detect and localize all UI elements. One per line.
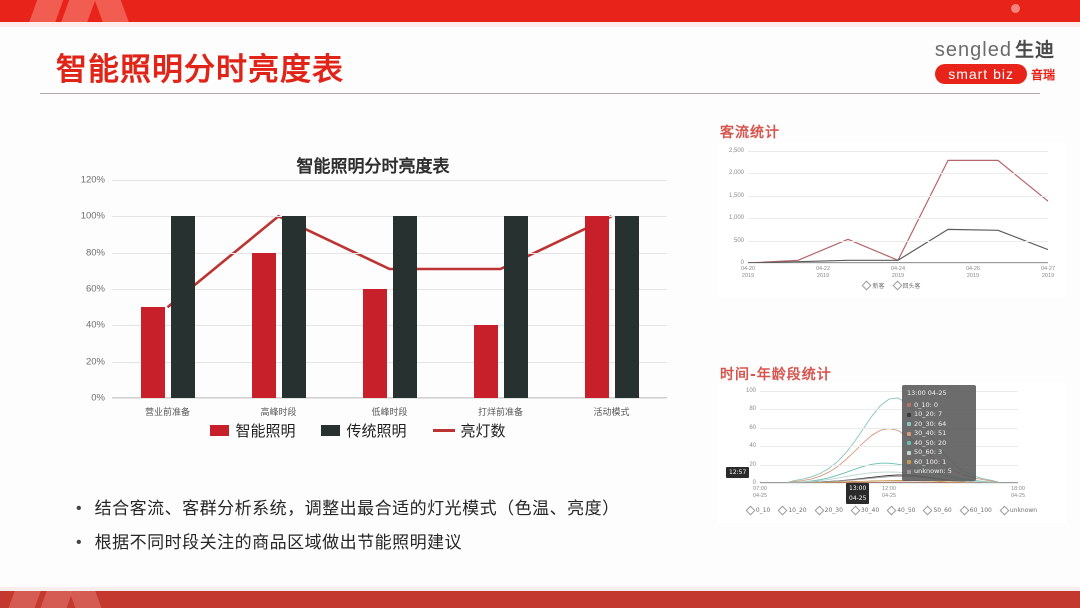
legend-label: 回头客 (903, 281, 921, 290)
age-tooltip-swatch-icon (907, 422, 911, 426)
age-tooltip-swatch-icon (907, 451, 911, 455)
legend-marker-icon (999, 506, 1009, 516)
age-marker-left: 12:57 (726, 467, 749, 478)
x-axis-tick-label: 04-262019 (966, 266, 980, 280)
age-series-line (760, 429, 1018, 484)
x-axis-tick-label: 04-222019 (816, 266, 830, 280)
age-tooltip-value: 10_20: 7 (914, 410, 942, 420)
traffic-chart: 05001,0001,5002,0002,50004-20201904-2220… (718, 143, 1066, 298)
bar-traditional-lighting (282, 216, 306, 398)
legend-label: 30_40 (861, 507, 879, 514)
y-axis-tick-label: 100% (81, 211, 105, 222)
legend-label-smart: 智能照明 (235, 420, 295, 441)
x-axis-tick-label: 18:0004-25 (1011, 486, 1025, 500)
legend-marker-icon (778, 506, 788, 516)
legend-item[interactable]: 10_20 (779, 507, 806, 514)
traffic-series-line (748, 160, 1048, 263)
chevron-shape (3, 591, 44, 608)
legend-item[interactable]: unknown (1001, 507, 1037, 514)
page-title: 智能照明分时亮度表 (56, 44, 344, 89)
y-axis-tick-label: 1,500 (729, 193, 744, 199)
traffic-panel-heading: 客流统计 (720, 122, 780, 142)
logo-brand-row: sengled生迪 (935, 40, 1055, 60)
age-tooltip-value: 30_40: 51 (914, 429, 946, 439)
legend-marker-icon (887, 506, 897, 516)
age-tooltip-swatch-icon (907, 470, 911, 474)
age-tooltip-swatch-icon (907, 460, 911, 464)
age-tooltip-row: 0_10: 0 (907, 401, 971, 411)
legend-label: 50_60 (933, 507, 951, 514)
legend-label: 新客 (872, 281, 884, 290)
legend-label: unknown (1010, 507, 1037, 514)
list-item: • 根据不同时段关注的商品区域做出节能照明建议 (76, 532, 736, 555)
x-axis-tick-label: 04-202019 (741, 266, 755, 280)
age-tooltip-row: 20_30: 64 (907, 420, 971, 430)
y-axis-tick-label: 0% (91, 393, 105, 404)
age-panel-heading: 时间-年龄段统计 (720, 364, 832, 384)
legend-swatch-lampcount-icon (433, 429, 455, 432)
grid-line: 120% (112, 180, 667, 181)
legend-item[interactable]: 50_60 (924, 507, 951, 514)
x-axis-tick-label: 07:0004-25 (753, 486, 767, 500)
x-axis-tick-label: 12:0004-25 (882, 486, 896, 500)
legend-item[interactable]: 40_50 (888, 507, 915, 514)
age-tooltip-row: 30_40: 51 (907, 429, 971, 439)
x-axis-tick-label: 低峰时段 (371, 405, 407, 418)
legend-marker-icon (923, 506, 933, 516)
decorative-dot (1011, 4, 1020, 13)
age-tooltip-swatch-icon (907, 403, 911, 407)
age-tooltip-swatch-icon (907, 432, 911, 436)
legend-item-lampcount: 亮灯数 (433, 420, 506, 441)
legend-marker-icon (745, 506, 755, 516)
traffic-lines (748, 151, 1048, 263)
title-divider (40, 93, 1040, 94)
bar-smart-lighting (141, 307, 165, 398)
legend-label-lampcount: 亮灯数 (461, 420, 506, 441)
legend-label: 20_30 (825, 507, 843, 514)
y-axis-tick-label: 40 (749, 443, 756, 449)
legend-item[interactable]: 回头客 (894, 281, 921, 290)
legend-label: 60_100 (970, 507, 992, 514)
x-axis-tick-label: 高峰时段 (260, 405, 296, 418)
y-axis-tick-label: 60% (86, 284, 105, 295)
bar-traditional-lighting (171, 216, 195, 398)
bar-traditional-lighting (615, 216, 639, 398)
y-axis-tick-label: 120% (81, 175, 105, 186)
slide-canvas: 智能照明分时亮度表 sengled生迪 smart biz 音瑞 智能照明分时亮… (0, 0, 1080, 608)
logo-brand-text: sengled (935, 39, 1012, 61)
grid-line: 0% (112, 398, 667, 399)
chevron-shape (90, 0, 133, 22)
age-tooltip-value: 40_50: 20 (914, 439, 946, 449)
legend-label: 10_20 (788, 507, 806, 514)
bar-traditional-lighting (504, 216, 528, 398)
bar-smart-lighting (252, 253, 276, 398)
grid-line: 1,500 (748, 196, 1048, 197)
legend-label-traditional: 传统照明 (346, 420, 406, 441)
y-axis-tick-label: 2,500 (729, 148, 744, 154)
y-axis-tick-label: 500 (734, 238, 744, 244)
age-chart: 02040608010007:0004-2512:0004-2518:0004-… (718, 383, 1066, 523)
age-plot-area: 02040608010007:0004-2512:0004-2518:0004-… (760, 391, 1018, 483)
age-tooltip-value: 0_10: 0 (914, 401, 938, 411)
age-tooltip-row: 40_50: 20 (907, 439, 971, 449)
legend-item-smart: 智能照明 (210, 420, 295, 441)
legend-label: 40_50 (897, 507, 915, 514)
legend-marker-icon (814, 506, 824, 516)
legend-swatch-traditional-icon (321, 425, 340, 436)
traffic-plot-area: 05001,0001,5002,0002,50004-20201904-2220… (748, 151, 1048, 263)
logo-brand-cn: 生迪 (1015, 39, 1055, 61)
age-tooltip-row: 10_20: 7 (907, 410, 971, 420)
brightness-chart: 智能照明分时亮度表 0%20%40%60%80%100%120%营业前准备高峰时… (42, 152, 674, 452)
legend-marker-icon (850, 506, 860, 516)
age-tooltip-row: 60_100: 1 (907, 458, 971, 468)
bar-traditional-lighting (393, 216, 417, 398)
legend-item[interactable]: 新客 (863, 281, 884, 290)
bottom-decorative-band (0, 591, 1080, 608)
grid-line: 100 (760, 391, 1018, 392)
bottom-band-fade (0, 587, 1080, 591)
legend-swatch-smart-icon (210, 425, 229, 436)
bullet-list: • 结合客流、客群分析系统，调整出最合适的灯光模式（色温、亮度） • 根据不同时… (76, 498, 736, 566)
x-axis-tick-label: 打烊前准备 (478, 405, 523, 418)
grid-line: 60 (760, 428, 1018, 429)
top-decorative-band (0, 0, 1080, 22)
y-axis-tick-label: 2,000 (729, 170, 744, 176)
y-axis-tick-label: 40% (86, 320, 105, 331)
traffic-legend: 新客回头客 (718, 281, 1066, 290)
grid-line: 40 (760, 446, 1018, 447)
age-tooltip-value: 60_100: 1 (914, 458, 946, 468)
chevron-shape (35, 591, 76, 608)
age-series-line (760, 398, 1018, 483)
age-tooltip-row: unknown: 5 (907, 467, 971, 477)
logo-sub-pill: smart biz (935, 64, 1027, 84)
legend-marker-icon (862, 281, 872, 291)
logo-sub-cn: 音瑞 (1031, 66, 1055, 83)
age-lines (760, 391, 1018, 483)
legend-item[interactable]: 30_40 (852, 507, 879, 514)
y-axis-tick-label: 20% (86, 356, 105, 367)
lamp-count-polyline (168, 216, 612, 307)
bullet-text: 结合客流、客群分析系统，调整出最合适的灯光模式（色温、亮度） (95, 498, 620, 521)
bar-smart-lighting (585, 216, 609, 398)
grid-line: 500 (748, 241, 1048, 242)
legend-item[interactable]: 20_30 (816, 507, 843, 514)
top-band-fade (0, 22, 1080, 27)
bullet-dot-icon: • (76, 532, 82, 554)
brightness-plot-area: 0%20%40%60%80%100%120%营业前准备高峰时段低峰时段打烊前准备… (112, 180, 667, 398)
brightness-legend: 智能照明 传统照明 亮灯数 (42, 420, 674, 441)
y-axis-tick-label: 80% (86, 247, 105, 258)
legend-label: 0_10 (756, 507, 770, 514)
legend-item[interactable]: 0_10 (747, 507, 770, 514)
age-tooltip-swatch-icon (907, 441, 911, 445)
chevron-shape (67, 591, 108, 608)
age-tooltip-value: unknown: 5 (914, 467, 952, 477)
x-axis-tick-label: 营业前准备 (145, 405, 190, 418)
grid-line: 0 (748, 263, 1048, 264)
age-tooltip-title: 13:00 04-25 (907, 389, 971, 399)
y-axis-tick-label: 20 (749, 462, 756, 468)
x-axis-tick-label: 活动模式 (593, 405, 629, 418)
x-axis-tick-label: 04-272019 (1041, 266, 1055, 280)
legend-item[interactable]: 60_100 (961, 507, 992, 514)
traffic-series-line (748, 229, 1048, 263)
x-axis-tick-label: 04-242019 (891, 266, 905, 280)
age-tooltip-value: 50_60: 3 (914, 448, 942, 458)
y-axis-tick-label: 60 (749, 425, 756, 431)
bullet-dot-icon: • (76, 498, 82, 520)
grid-line: 2,000 (748, 173, 1048, 174)
bar-smart-lighting (474, 325, 498, 398)
legend-item-traditional: 传统照明 (321, 420, 406, 441)
grid-line: 80 (760, 409, 1018, 410)
chevron-shape (58, 0, 101, 22)
age-marker-date: 04-25 (846, 493, 869, 504)
grid-line: 1,000 (748, 218, 1048, 219)
bullet-text: 根据不同时段关注的商品区域做出节能照明建议 (95, 532, 463, 555)
age-tooltip-value: 20_30: 64 (914, 420, 946, 430)
y-axis-tick-label: 80 (749, 406, 756, 412)
brightness-chart-title: 智能照明分时亮度表 (72, 152, 674, 177)
bar-smart-lighting (363, 289, 387, 398)
list-item: • 结合客流、客群分析系统，调整出最合适的灯光模式（色温、亮度） (76, 498, 736, 521)
grid-line: 20 (760, 465, 1018, 466)
y-axis-tick-label: 1,000 (729, 215, 744, 221)
age-legend: 0_1010_2020_3030_4040_5050_6060_100unkno… (718, 507, 1066, 514)
age-tooltip-row: 50_60: 3 (907, 448, 971, 458)
brand-logo: sengled生迪 smart biz 音瑞 (935, 40, 1055, 84)
age-tooltip-rows: 0_10: 010_20: 720_30: 6430_40: 5140_50: … (907, 401, 971, 477)
age-tooltip: 13:00 04-25 0_10: 010_20: 720_30: 6430_4… (902, 385, 976, 481)
age-tooltip-swatch-icon (907, 413, 911, 417)
legend-marker-icon (892, 281, 902, 291)
logo-sub-row: smart biz 音瑞 (935, 64, 1055, 84)
grid-line: 2,500 (748, 151, 1048, 152)
grid-line: 0 (760, 483, 1018, 484)
y-axis-tick-label: 100 (746, 388, 756, 394)
legend-marker-icon (959, 506, 969, 516)
